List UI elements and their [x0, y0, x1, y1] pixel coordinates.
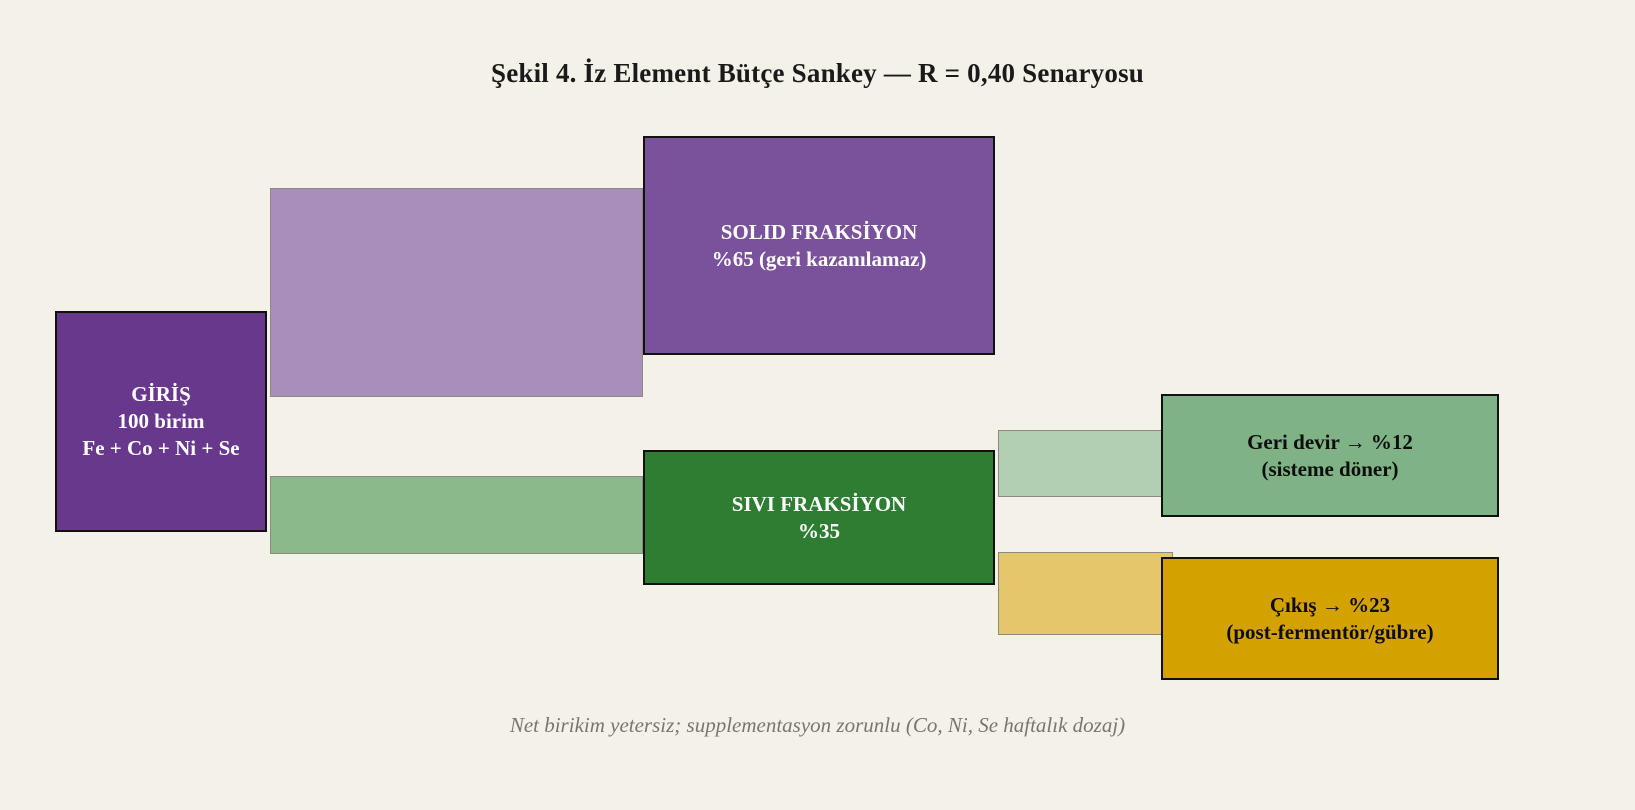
- flow-giris-to-sivi: [270, 476, 643, 554]
- node-cikis[interactable]: Çıkış → %23 (post-fermentör/gübre): [1161, 557, 1499, 680]
- node-solid-fraksiyon-label: SOLID FRAKSİYON %65 (geri kazanılamaz): [704, 219, 935, 273]
- page-title: Şekil 4. İz Element Bütçe Sankey — R = 0…: [0, 58, 1635, 89]
- flow-sivi-to-geri-devir: [998, 430, 1173, 497]
- flow-sivi-to-cikis: [998, 552, 1173, 635]
- sankey-diagram: Şekil 4. İz Element Bütçe Sankey — R = 0…: [0, 0, 1635, 810]
- node-geri-devir-label: Geri devir → %12 (sisteme döner): [1239, 429, 1421, 483]
- node-sivi-fraksiyon[interactable]: SIVI FRAKSİYON %35: [643, 450, 995, 585]
- node-sivi-fraksiyon-label: SIVI FRAKSİYON %35: [724, 491, 914, 545]
- node-giris[interactable]: GİRİŞ 100 birim Fe + Co + Ni + Se: [55, 311, 267, 532]
- chart-caption: Net birikim yetersiz; supplementasyon zo…: [0, 713, 1635, 738]
- node-solid-fraksiyon[interactable]: SOLID FRAKSİYON %65 (geri kazanılamaz): [643, 136, 995, 355]
- flow-giris-to-solid: [270, 188, 643, 397]
- node-geri-devir[interactable]: Geri devir → %12 (sisteme döner): [1161, 394, 1499, 517]
- node-cikis-label: Çıkış → %23 (post-fermentör/gübre): [1218, 592, 1441, 646]
- node-giris-label: GİRİŞ 100 birim Fe + Co + Ni + Se: [74, 381, 247, 462]
